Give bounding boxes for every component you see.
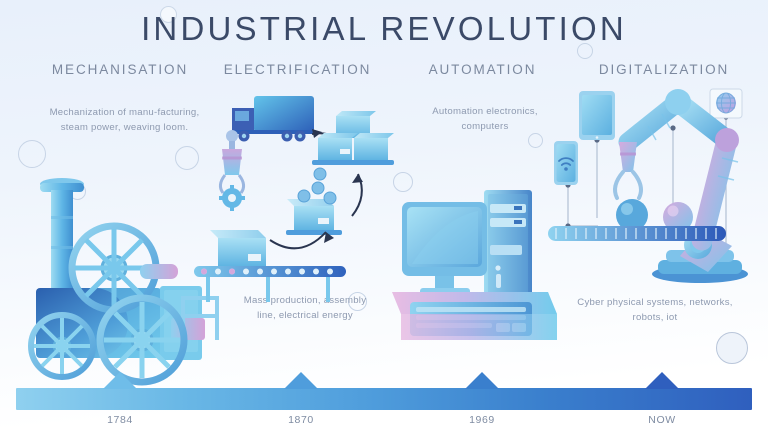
page-title: INDUSTRIAL REVOLUTION (0, 10, 768, 48)
section-header-digitalization: DIGITALIZATION (560, 62, 768, 77)
section-description-mechanisation: Mechanization of manu-facturing, steam p… (42, 106, 207, 135)
section-header-automation: AUTOMATION (375, 62, 590, 77)
illustration-steam-locomotive (14, 168, 224, 373)
illustration-assembly-line (196, 88, 391, 283)
timeline-year-1969: 1969 (447, 414, 517, 426)
timeline-year-1870: 1870 (266, 414, 336, 426)
timeline-bar (16, 388, 752, 410)
timeline-marker-1784[interactable] (103, 372, 137, 389)
timeline-year-1784: 1784 (85, 414, 155, 426)
section-description-digitalization: Cyber physical systems, networks, robots… (575, 296, 735, 325)
decor-circle-6 (528, 133, 543, 148)
decor-circle-3 (18, 140, 46, 168)
timeline-marker-1870[interactable] (284, 372, 318, 389)
decor-circle-8 (716, 332, 748, 364)
illustration-robot-arm-iot (542, 84, 768, 286)
timeline-marker-now[interactable] (645, 372, 679, 389)
timeline-year-now: NOW (627, 414, 697, 426)
section-description-automation: Automation electronics, computers (425, 105, 545, 134)
section-description-electrification: Mass production, assembly line, electric… (240, 294, 370, 323)
timeline-marker-1969[interactable] (465, 372, 499, 389)
illustration-desktop-computer (392, 180, 557, 355)
infographic-canvas: INDUSTRIAL REVOLUTION MECHANISATION ELEC… (0, 0, 768, 441)
